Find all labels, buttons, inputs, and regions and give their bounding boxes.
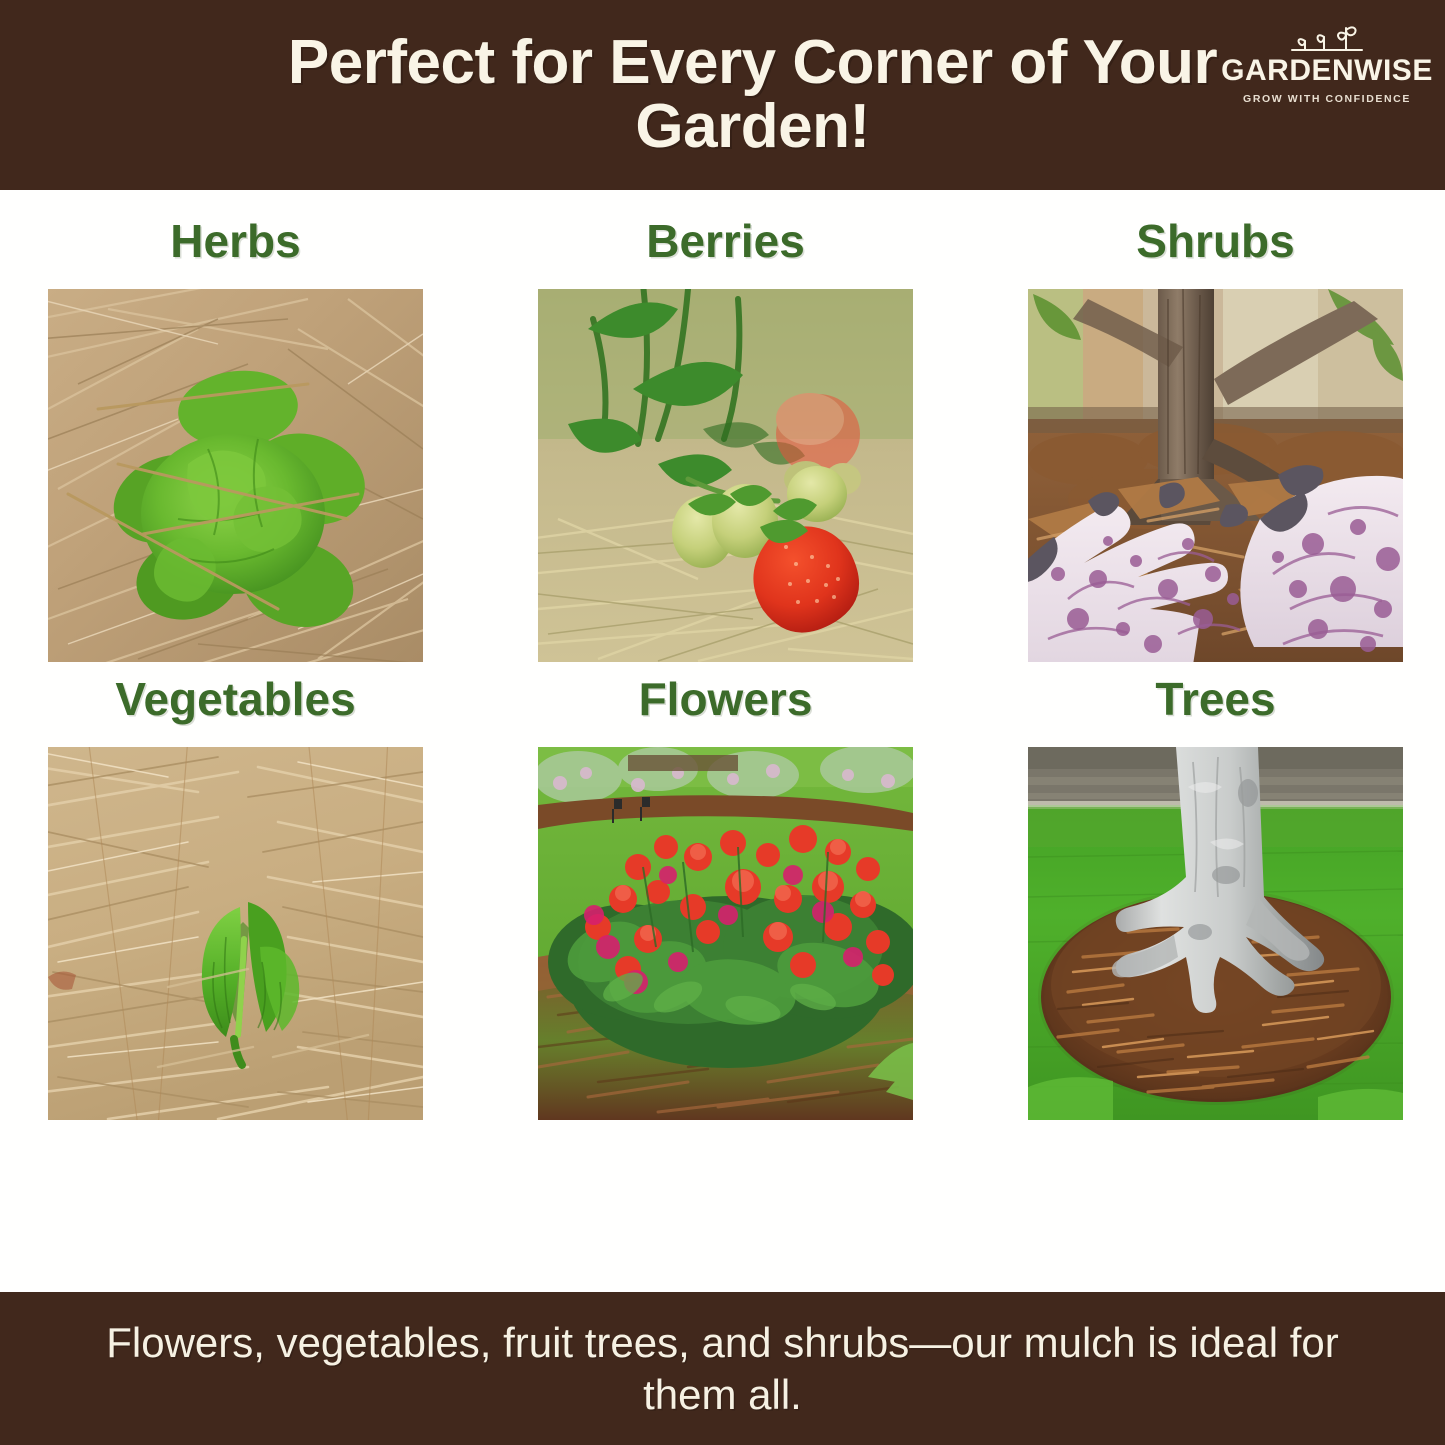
logo-wordmark: GARDENWISE (1221, 56, 1433, 86)
category-row-1: Herbs (48, 218, 1397, 662)
category-card-herbs: Herbs (48, 218, 423, 662)
page-title: Perfect for Every Corner of Your Garden! (223, 31, 1283, 159)
vegetables-photo (48, 747, 423, 1120)
category-label-vegetables: Vegetables (115, 676, 355, 722)
promotional-infographic: Perfect for Every Corner of Your Garden!… (0, 0, 1445, 1445)
category-row-2: Vegetables (48, 676, 1397, 1120)
category-card-shrubs: Shrubs (1028, 218, 1403, 662)
flowers-photo (538, 747, 913, 1120)
berries-photo (538, 289, 913, 662)
category-card-flowers: Flowers (538, 676, 913, 1120)
category-label-herbs: Herbs (170, 218, 300, 264)
logo-tagline: GROW WITH CONFIDENCE (1243, 93, 1411, 105)
category-card-berries: Berries (538, 218, 913, 662)
category-card-vegetables: Vegetables (48, 676, 423, 1120)
category-label-berries: Berries (646, 218, 805, 264)
brand-logo: GARDENWISE GROW WITH CONFIDENCE (1227, 16, 1427, 105)
category-label-trees: Trees (1155, 676, 1275, 722)
footer-tagline: Flowers, vegetables, fruit trees, and sh… (98, 1317, 1348, 1419)
shrubs-photo (1028, 289, 1403, 662)
category-label-shrubs: Shrubs (1136, 218, 1294, 264)
herbs-photo (48, 289, 423, 662)
category-label-flowers: Flowers (639, 676, 813, 722)
three-sprouts-icon (1284, 16, 1370, 54)
trees-photo (1028, 747, 1403, 1120)
category-card-trees: Trees (1028, 676, 1403, 1120)
footer-banner: Flowers, vegetables, fruit trees, and sh… (0, 1292, 1445, 1445)
category-grid: Herbs (0, 190, 1445, 1292)
header-banner: Perfect for Every Corner of Your Garden!… (0, 0, 1445, 190)
